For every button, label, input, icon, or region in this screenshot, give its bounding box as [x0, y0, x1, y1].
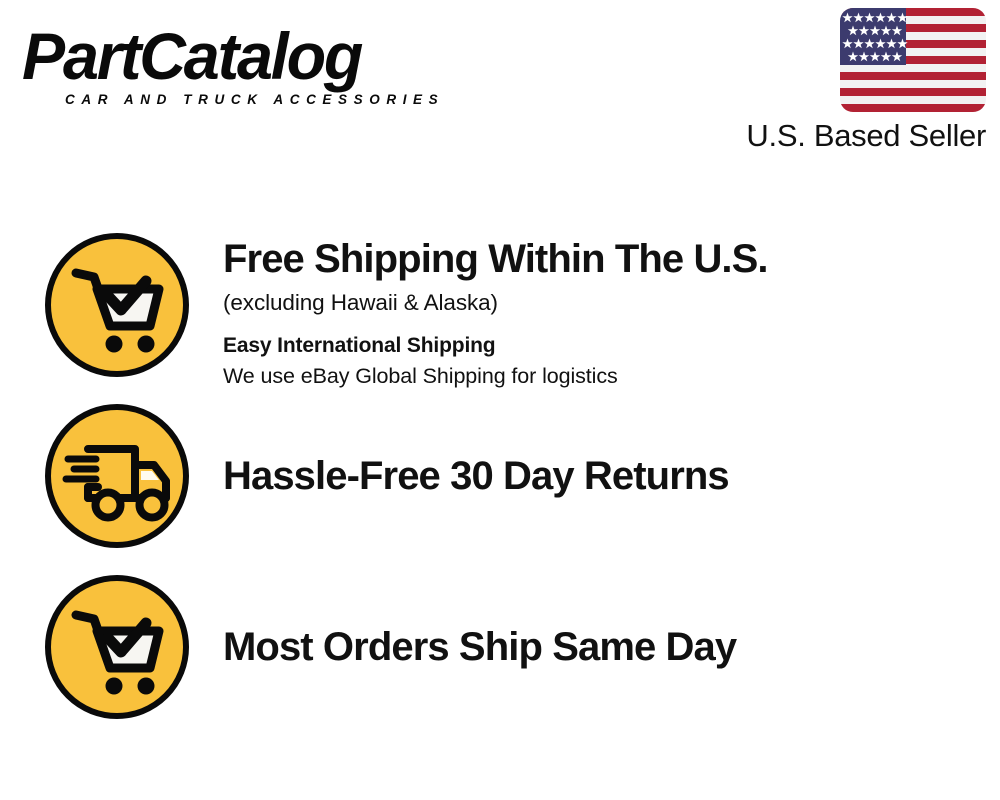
us-flag-icon	[840, 8, 986, 112]
feature-note-line: We use eBay Global Shipping for logistic…	[223, 360, 1000, 390]
us-based-seller-badge: U.S. Based Seller	[726, 8, 986, 154]
feature-title: Most Orders Ship Same Day	[223, 624, 736, 670]
feature-subtitle: (excluding Hawaii & Alaska)	[223, 282, 1000, 318]
feature-text-block: Hassle-Free 30 Day Returns	[194, 401, 1000, 551]
shopping-cart-check-icon	[42, 572, 192, 722]
feature-row: Free Shipping Within The U.S. (excluding…	[0, 230, 1000, 390]
shopping-cart-check-icon	[42, 230, 192, 380]
feature-row: Hassle-Free 30 Day Returns	[0, 401, 1000, 551]
feature-title: Free Shipping Within The U.S.	[223, 230, 1000, 282]
feature-title: Hassle-Free 30 Day Returns	[223, 453, 729, 499]
feature-icon-wrapper	[42, 401, 194, 551]
feature-icon-wrapper	[42, 572, 194, 722]
feature-row: Most Orders Ship Same Day	[0, 572, 1000, 722]
brand-logo[interactable]: PartCatalog CAR AND TRUCK ACCESSORIES	[22, 20, 492, 115]
feature-text-block: Free Shipping Within The U.S. (excluding…	[194, 230, 1000, 390]
feature-icon-wrapper	[42, 230, 194, 380]
feature-strong-line: Easy International Shipping	[223, 318, 1000, 360]
delivery-truck-icon	[42, 401, 192, 551]
page-header: PartCatalog CAR AND TRUCK ACCESSORIES	[0, 0, 1000, 170]
brand-wordmark: PartCatalog	[22, 20, 361, 92]
us-based-seller-label: U.S. Based Seller	[726, 118, 986, 154]
brand-tagline: CAR AND TRUCK ACCESSORIES	[65, 92, 444, 108]
feature-text-block: Most Orders Ship Same Day	[194, 572, 1000, 722]
